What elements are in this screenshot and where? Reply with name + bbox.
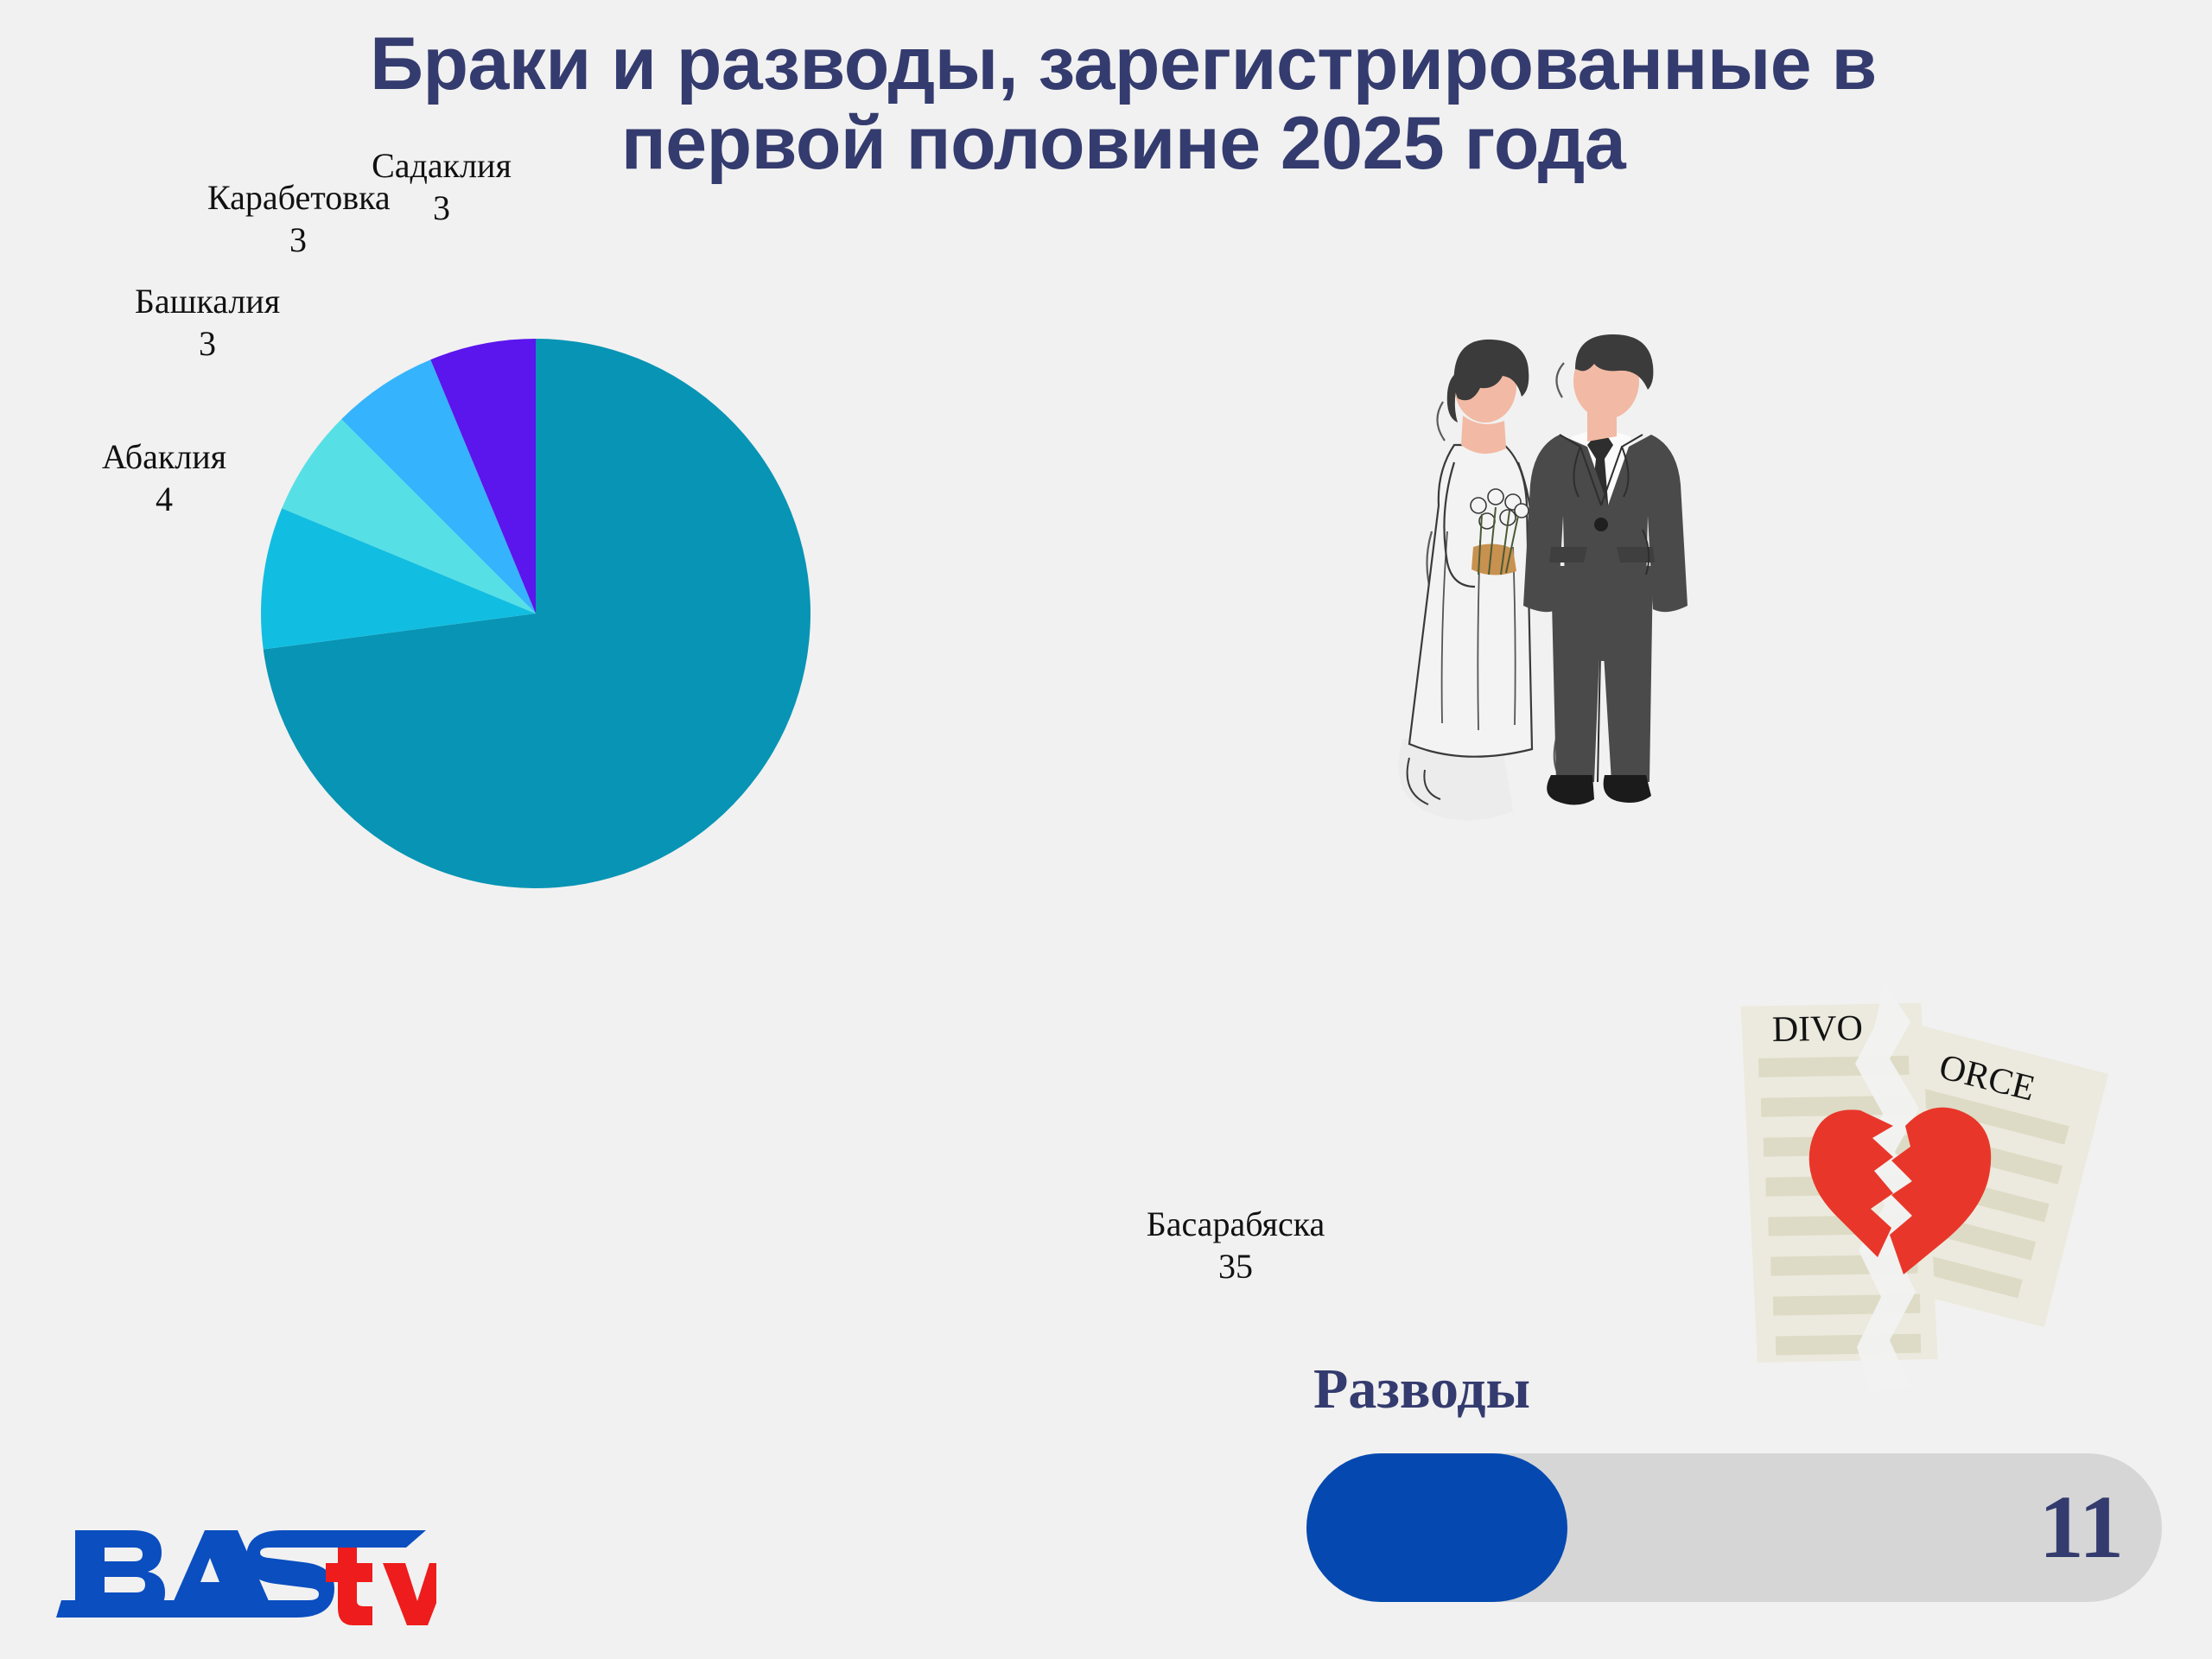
- pie-label-sadaklia-name: Садаклия: [372, 146, 512, 185]
- pie-label-basarabiaska: Басарабяска 35: [1136, 1204, 1335, 1288]
- logo-tv-text: [326, 1548, 436, 1625]
- pie-label-karabetovka: Карабетовка 3: [207, 177, 389, 262]
- pie-chart: [259, 337, 812, 890]
- pie-label-karabetovka-value: 3: [207, 219, 389, 262]
- pie-label-abaklia: Абаклия 4: [82, 436, 246, 521]
- divorces-progress-track[interactable]: 11: [1306, 1453, 2162, 1602]
- pie-label-abaklia-name: Абаклия: [102, 437, 226, 476]
- divorce-papers-icon: ORCE DIVO: [1724, 972, 2113, 1395]
- pie-label-bashkalia-value: 3: [121, 323, 294, 365]
- pie-label-basarabiaska-value: 35: [1136, 1246, 1335, 1288]
- title-line-1: Браки и разводы, зарегистрированные в: [181, 24, 2065, 104]
- pie-label-karabetovka-name: Карабетовка: [207, 178, 391, 217]
- pie-chart-svg: [259, 337, 812, 890]
- divorces-label: Разводы: [1313, 1357, 1530, 1422]
- bastv-logo[interactable]: [56, 1516, 436, 1629]
- pie-label-basarabiaska-name: Басарабяска: [1147, 1205, 1325, 1243]
- divorces-value: 11: [2039, 1483, 2124, 1573]
- pie-label-bashkalia-name: Башкалия: [135, 282, 280, 321]
- pie-label-bashkalia: Башкалия 3: [121, 281, 294, 365]
- wedding-couple-icon: [1387, 333, 1750, 851]
- infographic-root: Браки и разводы, зарегистрированные в пе…: [0, 0, 2212, 1659]
- pie-label-abaklia-value: 4: [82, 479, 246, 521]
- divorces-progress-fill: [1306, 1453, 1567, 1602]
- divorce-text-left: DIVO: [1771, 1008, 1863, 1050]
